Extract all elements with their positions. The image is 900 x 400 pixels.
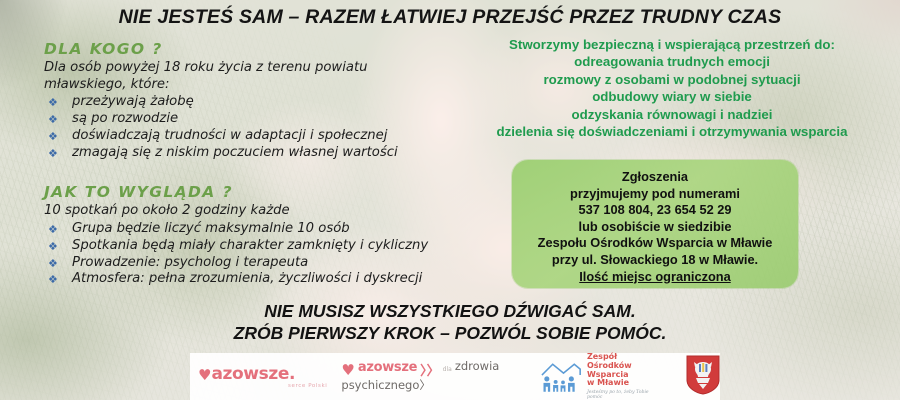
jak-to-wyglada-bullet-list: ❖Grupa będzie liczyć maksymalnie 10 osób… <box>44 221 444 288</box>
mazowsze-wordmark: ♥azowsze. <box>198 364 335 384</box>
offer-line-5: odzyskania równowagi i nadziei <box>452 106 892 123</box>
mazowsze-zdrowie-row: ♥azowsze 〉〉 dla zdrowia <box>341 360 527 379</box>
list-item: ❖Grupa będzie liczyć maksymalnie 10 osób <box>44 221 444 238</box>
section-heading-dla-kogo: DLA KOGO ? <box>44 40 444 58</box>
contact-line-zgloszenia: Zgłoszenia <box>512 169 798 186</box>
contact-limited-places-note: Ilość miejsc ograniczona <box>512 269 798 286</box>
list-item: ❖są po rozwodzie <box>44 111 444 128</box>
list-item-label: doświadczają trudności w adaptacji i spo… <box>72 128 387 143</box>
heart-icon: ♥ <box>341 361 354 379</box>
list-item-label: są po rozwodzie <box>72 111 178 126</box>
mazowsze-zdrowie-line-1: zdrowia <box>455 360 500 374</box>
list-item-label: Grupa będzie liczyć maksymalnie 10 osób <box>72 221 350 236</box>
right-column-offer-list: Stworzymy bezpieczną i wspierającą przes… <box>452 36 892 140</box>
mazowsze-word: azowsze. <box>211 364 295 384</box>
double-chevron-icon: 〉〉 <box>420 360 440 379</box>
contact-address: przy ul. Słowackiego 18 w Mławie. <box>512 252 798 269</box>
zow-motto: Jesteśmy po to, żeby Tobie pomóc <box>587 390 664 400</box>
offer-line-1: Stworzymy bezpieczną i wspierającą przes… <box>452 36 892 53</box>
bullet-diamond-icon: ❖ <box>48 221 58 238</box>
contact-line-numbers-label: przyjmujemy pod numerami <box>512 186 798 203</box>
section-spacer <box>44 161 444 183</box>
contact-line-in-person: lub osobiście w siedzibie <box>512 219 798 236</box>
contact-organisation-name: Zespołu Ośrodków Wsparcia w Mławie <box>512 235 798 252</box>
bullet-diamond-icon: ❖ <box>48 271 58 288</box>
list-item-label: Prowadzenie: psycholog i terapeuta <box>72 255 308 270</box>
slogan-line-2: ZRÓB PIERWSZY KROK – POZWÓL SOBIE POMÓC. <box>0 322 900 344</box>
logo-mazowsze-serce-polski: ♥azowsze. serce Polski <box>198 364 335 389</box>
offer-line-4: odbudowy wiary w siebie <box>452 88 892 105</box>
poster-canvas: NIE JESTEŚ SAM – RAZEM ŁATWIEJ PRZEJŚĆ P… <box>0 0 900 400</box>
mazowsze-zdrowie-word: azowsze <box>358 360 417 375</box>
list-item: ❖Spotkania będą miały charakter zamknięt… <box>44 238 444 255</box>
bullet-diamond-icon: ❖ <box>48 128 58 145</box>
offer-line-3: rozmowy z osobami w podobnej sytuacji <box>452 71 892 88</box>
offer-line-6: dzielenia się doświadczeniami i otrzymyw… <box>452 123 892 140</box>
contact-phone-numbers[interactable]: 537 108 804, 23 654 52 29 <box>512 202 798 219</box>
dla-kogo-bullet-list: ❖przeżywają żałobę ❖są po rozwodzie ❖doś… <box>44 94 444 161</box>
bullet-diamond-icon: ❖ <box>48 145 58 162</box>
offer-line-2: odreagowania trudnych emocji <box>452 53 892 70</box>
poster-headline: NIE JESTEŚ SAM – RAZEM ŁATWIEJ PRZEJŚĆ P… <box>0 6 900 29</box>
bullet-diamond-icon: ❖ <box>48 94 58 111</box>
list-item: ❖zmagają się z niskim poczuciem własnej … <box>44 145 444 162</box>
mazowsze-zdrowie-dla: dla <box>443 366 452 373</box>
poster-slogan: NIE MUSISZ WSZYSTKIEGO DŹWIGAĆ SAM. ZRÓB… <box>0 300 900 344</box>
coat-of-arms-icon <box>686 355 720 395</box>
list-item-label: zmagają się z niskim poczuciem własnej w… <box>72 145 398 160</box>
logo-zespol-osrodkow-wsparcia: Zespół Ośrodków Wsparcia w Mławie Jesteś… <box>538 353 664 399</box>
zow-line-4: w Mławie <box>587 379 664 388</box>
left-column: DLA KOGO ? Dla osób powyżej 18 roku życi… <box>44 40 444 288</box>
bullet-diamond-icon: ❖ <box>48 111 58 128</box>
house-with-family-icon <box>538 360 583 394</box>
jak-to-wyglada-lead-line-1: 10 spotkań po około 2 godziny każde <box>44 203 444 220</box>
list-item-label: Atmosfera: pełna zrozumienia, życzliwośc… <box>72 271 422 286</box>
contact-panel-text: Zgłoszenia przyjmujemy pod numerami 537 … <box>512 169 798 285</box>
list-item: ❖Prowadzenie: psycholog i terapeuta <box>44 255 444 272</box>
dla-kogo-lead-line-1: Dla osób powyżej 18 roku życia z terenu … <box>44 60 444 77</box>
footer-logo-bar: ♥azowsze. serce Polski ♥azowsze 〉〉 dla z… <box>190 353 720 400</box>
heart-icon: ♥ <box>198 366 211 384</box>
list-item-label: Spotkania będą miały charakter zamknięty… <box>72 238 428 253</box>
list-item: ❖przeżywają żałobę <box>44 94 444 111</box>
list-item: ❖doświadczają trudności w adaptacji i sp… <box>44 128 444 145</box>
logo-mazowsze-dla-zdrowia-psychicznego: ♥azowsze 〉〉 dla zdrowia psychicznego〉 <box>341 360 527 393</box>
mazowsze-zdrowie-line-2: psychicznego〉 <box>341 379 527 393</box>
list-item-label: przeżywają żałobę <box>72 94 194 109</box>
slogan-line-1: NIE MUSISZ WSZYSTKIEGO DŹWIGAĆ SAM. <box>0 300 900 322</box>
list-item: ❖Atmosfera: pełna zrozumienia, życzliwoś… <box>44 271 444 288</box>
dla-kogo-lead-line-2: mławskiego, które: <box>44 77 444 94</box>
logo-powiat-crest <box>686 355 720 399</box>
zow-text-block: Zespół Ośrodków Wsparcia w Mławie Jesteś… <box>587 353 664 399</box>
contact-panel: Zgłoszenia przyjmujemy pod numerami 537 … <box>512 160 798 288</box>
bullet-diamond-icon: ❖ <box>48 255 58 272</box>
section-heading-jak-to-wyglada: JAK TO WYGLĄDA ? <box>44 183 444 201</box>
bullet-diamond-icon: ❖ <box>48 238 58 255</box>
